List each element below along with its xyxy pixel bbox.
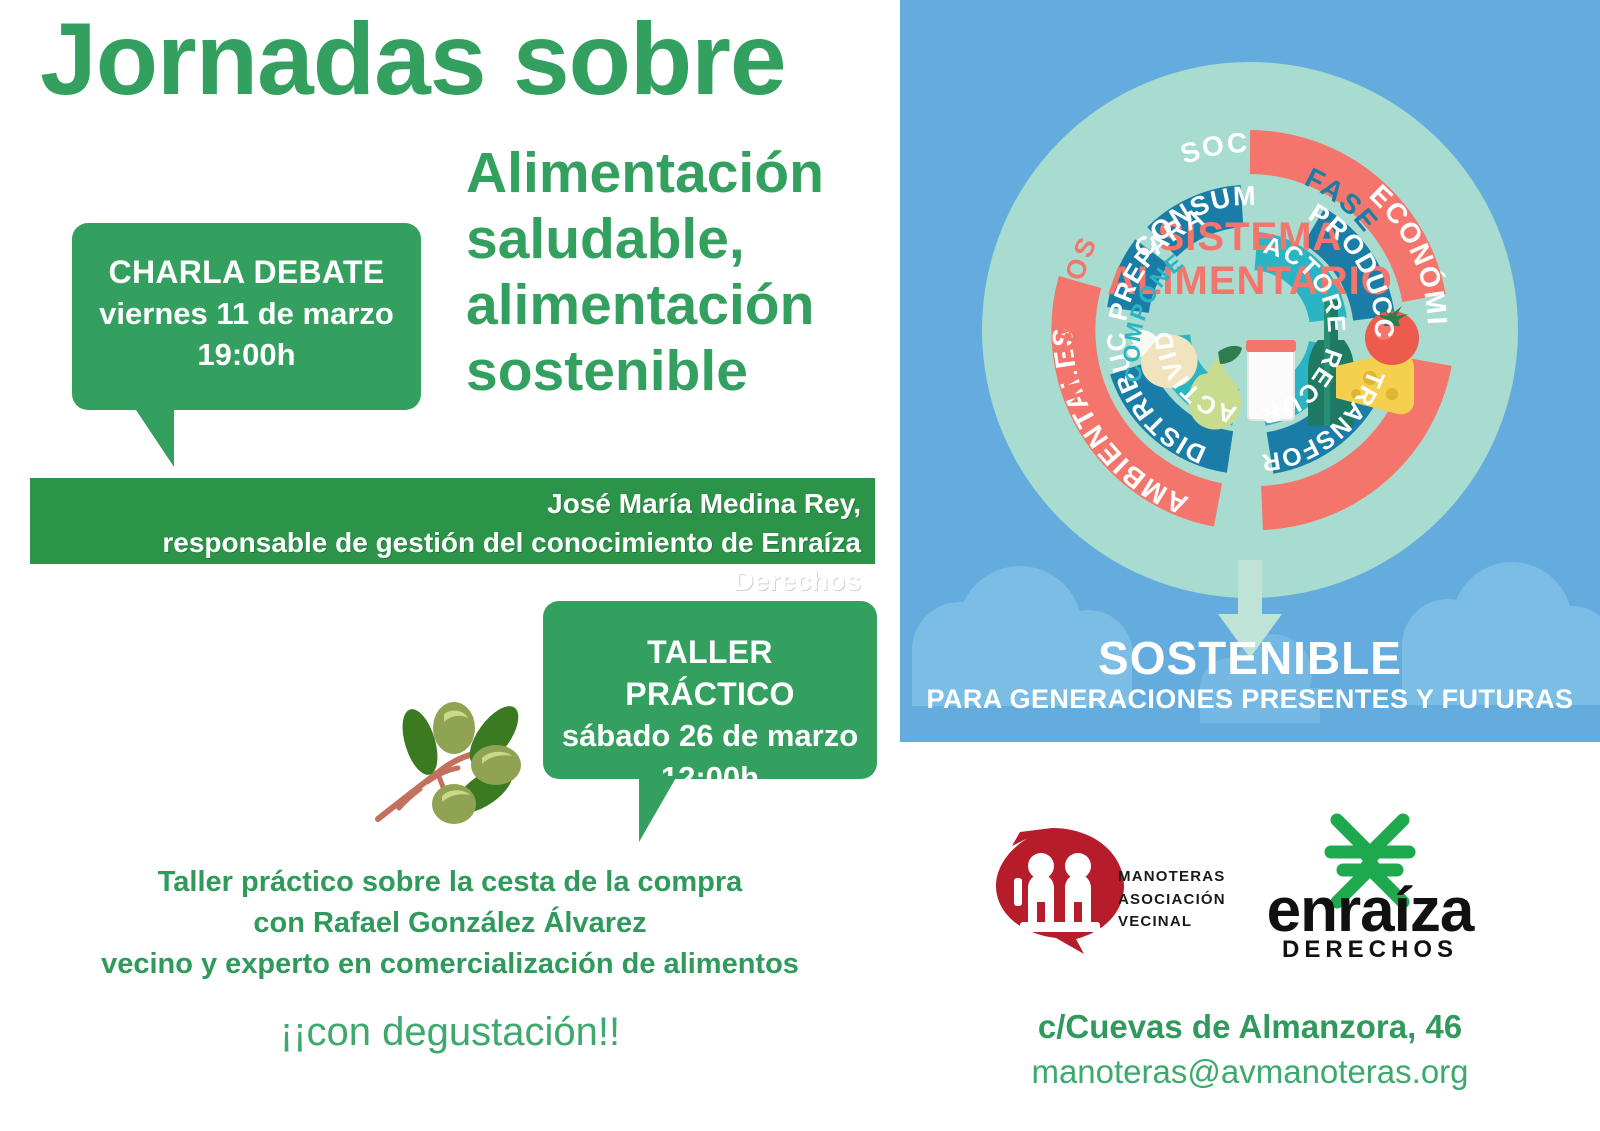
speaker-name: José María Medina Rey, [44,485,861,524]
charla-debate-time: 19:00h [90,334,403,375]
contact-email[interactable]: manoteras@avmanoteras.org [900,1053,1600,1091]
poster-canvas: Jornadas sobre Alimentación saludable, a… [0,0,1600,1131]
speaker-banner: José María Medina Rey, responsable de ge… [30,478,875,564]
taller-practico-time: 12:00h [559,757,861,798]
food-system-diagram-panel: SISTEMA ALIMENTARIO [900,0,1600,742]
charla-debate-bubble-tail [134,407,174,467]
sostenible-title: SOSTENIBLE [900,635,1600,681]
page-title: Jornadas sobre [40,6,786,113]
food-system-wheel-diagram: SISTEMA ALIMENTARIO [900,0,1600,742]
workshop-desc-line-1: Taller práctico sobre la cesta de la com… [0,862,900,903]
enraiza-wordmark: enraíza [1245,880,1495,942]
taller-practico-bubble: TALLER PRÁCTICO sábado 26 de marzo 12:00… [543,601,877,779]
taller-practico-bubble-tail [639,776,677,842]
charla-debate-bubble: CHARLA DEBATE viernes 11 de marzo 19:00h [72,223,421,410]
taller-practico-date: sábado 26 de marzo [559,715,861,756]
workshop-desc-line-2: con Rafael González Álvarez [0,903,900,944]
enraiza-subword: DERECHOS [1245,938,1495,962]
contact-address: c/Cuevas de Almanzora, 46 [900,1008,1600,1046]
manoteras-line-2: ASOCIACIÓN [1118,889,1226,912]
workshop-desc-line-3: vecino y experto en comercialización de … [0,944,900,985]
manoteras-line-3: VECINAL [1118,911,1226,934]
manoteras-wordmark: MANOTERAS ASOCIACIÓN VECINAL [1118,866,1226,934]
sostenible-subtitle: PARA GENERACIONES PRESENTES Y FUTURAS [900,686,1600,713]
manoteras-line-1: MANOTERAS [1118,866,1226,889]
speaker-role: responsable de gestión del conocimiento … [44,524,861,601]
taller-practico-heading: TALLER PRÁCTICO [559,631,861,715]
charla-debate-heading: CHARLA DEBATE [90,251,403,293]
charla-debate-date: viernes 11 de marzo [90,293,403,334]
workshop-description: Taller práctico sobre la cesta de la com… [0,862,900,986]
degustacion-highlight: ¡¡con degustación!! [0,1010,900,1055]
page-subtitle: Alimentación saludable, alimentación sos… [466,140,886,404]
olive-branch-icon [372,664,542,824]
